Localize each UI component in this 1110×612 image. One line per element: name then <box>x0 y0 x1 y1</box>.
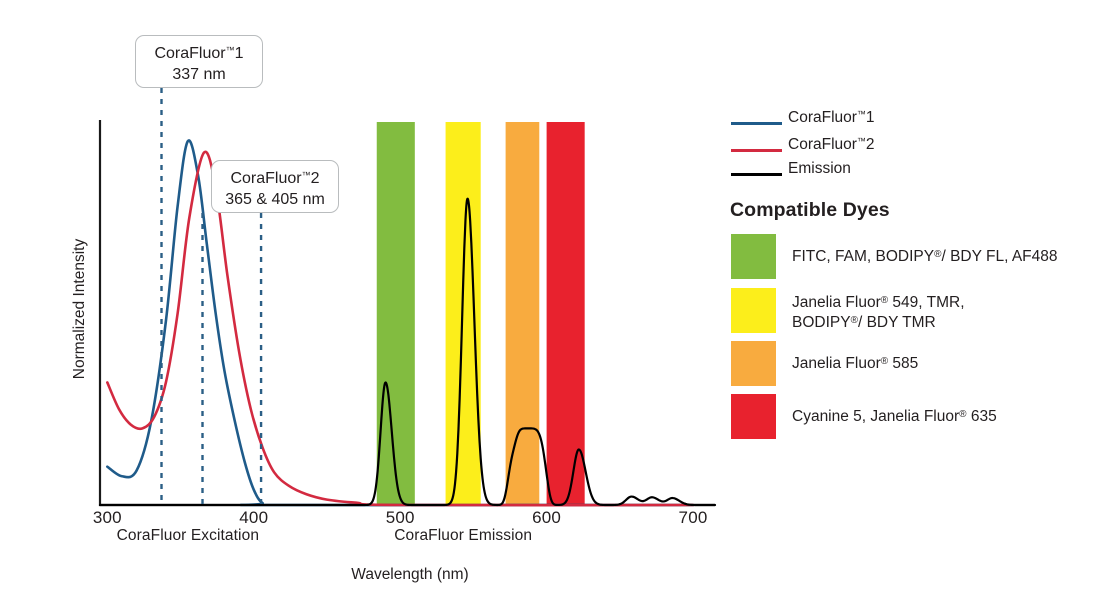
x-tick-label-300: 300 <box>72 508 142 528</box>
dye-color-swatch <box>731 288 776 333</box>
dye-label-line2: BODIPY®/ BDY TMR <box>792 313 965 333</box>
legend-label-suffix: 1 <box>866 109 875 126</box>
legend-item-label: CoraFluor™2 <box>788 136 875 154</box>
x-tick-label-500: 500 <box>365 508 435 528</box>
dye-list-item[interactable]: Janelia Fluor® 585 <box>731 341 1101 386</box>
dye-label-suffix: 635 <box>967 408 997 425</box>
dye-label-line1: Cyanine 5, Janelia Fluor® 635 <box>792 407 997 427</box>
legend-label-main: Emission <box>788 160 851 177</box>
spectra-plot: 300 400 500 600 700 CoraFluor Excitation… <box>0 0 730 612</box>
callout-1-line1: CoraFluor™1 <box>154 45 243 62</box>
dye-list-item[interactable]: Cyanine 5, Janelia Fluor® 635 <box>731 394 1101 439</box>
registered-icon: ® <box>851 315 858 326</box>
dye-label-suffix: / BDY TMR <box>858 314 936 331</box>
legend-item-label: Emission <box>788 160 851 178</box>
dye-label-main: Cyanine 5, Janelia Fluor <box>792 408 959 425</box>
y-axis-title: Normalized Intensity <box>71 214 89 404</box>
dye-list-item[interactable]: Janelia Fluor® 549, TMR,BODIPY®/ BDY TMR <box>731 288 1101 333</box>
x-axis-title: Wavelength (nm) <box>280 566 540 584</box>
dye-label-main: Janelia Fluor <box>792 355 881 372</box>
green-band <box>377 122 415 505</box>
dye-label: Janelia Fluor® 585 <box>792 354 918 374</box>
dye-color-swatch <box>731 394 776 439</box>
dye-label: Janelia Fluor® 549, TMR,BODIPY®/ BDY TMR <box>792 293 965 334</box>
excitation-section-label: CoraFluor Excitation <box>88 527 288 545</box>
callout-2-line1: CoraFluor™2 <box>230 170 319 187</box>
legend-label-main: CoraFluor <box>788 136 857 153</box>
dye-label-suffix: / BDY FL, AF488 <box>941 248 1057 265</box>
legend-label-main: CoraFluor <box>788 109 857 126</box>
trademark-icon: ™ <box>857 136 866 146</box>
dye-label-main: BODIPY <box>792 314 851 331</box>
dye-label-line1: FITC, FAM, BODIPY®/ BDY FL, AF488 <box>792 247 1058 267</box>
dye-color-swatch <box>731 341 776 386</box>
dye-label-suffix: 585 <box>888 355 918 372</box>
legend-line-swatch <box>731 122 782 125</box>
registered-icon: ® <box>959 409 966 420</box>
trademark-icon: ™ <box>857 109 866 119</box>
dye-label-main: Janelia Fluor <box>792 294 881 311</box>
x-tick-label-400: 400 <box>219 508 289 528</box>
emission-section-label: CoraFluor Emission <box>363 527 563 545</box>
red-band <box>547 122 585 505</box>
orange-band <box>506 122 540 505</box>
dye-label-line1: Janelia Fluor® 549, TMR, <box>792 293 965 313</box>
callout-corafluor1: CoraFluor™1 337 nm <box>135 35 263 88</box>
x-tick-label-600: 600 <box>512 508 582 528</box>
x-tick-label-700: 700 <box>658 508 728 528</box>
callout-2-line2: 365 & 405 nm <box>222 189 328 210</box>
dye-label-main: FITC, FAM, BODIPY <box>792 248 934 265</box>
dye-color-swatch <box>731 234 776 279</box>
chart-page: 300 400 500 600 700 CoraFluor Excitation… <box>0 0 1110 612</box>
dye-label-suffix: 549, TMR, <box>888 294 964 311</box>
compatible-dyes-heading: Compatible Dyes <box>730 199 890 222</box>
legend-item-label: CoraFluor™1 <box>788 109 875 127</box>
legend-label-suffix: 2 <box>866 136 875 153</box>
legend-line-swatch <box>731 149 782 152</box>
dye-list-item[interactable]: FITC, FAM, BODIPY®/ BDY FL, AF488 <box>731 234 1101 279</box>
callout-corafluor2: CoraFluor™2 365 & 405 nm <box>211 160 339 213</box>
legend-line-swatch <box>731 173 782 176</box>
legend-panel: CoraFluor™1CoraFluor™2Emission Compatibl… <box>729 0 1110 612</box>
dye-label-line1: Janelia Fluor® 585 <box>792 354 918 374</box>
trademark-icon: ™ <box>302 170 311 180</box>
trademark-icon: ™ <box>226 45 235 55</box>
callout-1-line2: 337 nm <box>146 64 252 85</box>
dye-label: FITC, FAM, BODIPY®/ BDY FL, AF488 <box>792 247 1058 267</box>
dye-label: Cyanine 5, Janelia Fluor® 635 <box>792 407 997 427</box>
